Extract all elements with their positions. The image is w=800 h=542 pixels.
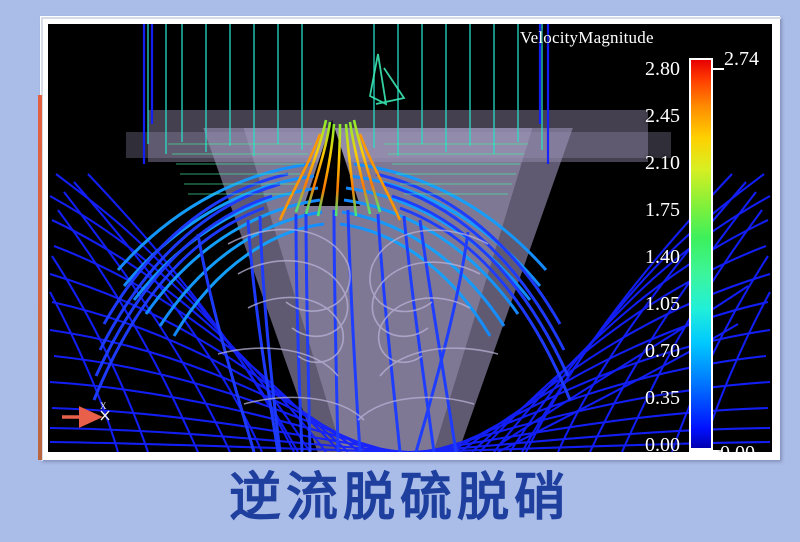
colorbar-tick: 0.00	[645, 434, 680, 452]
colorbar-gradient	[689, 58, 713, 450]
colorbar-tick: 0.70	[645, 340, 680, 363]
screenshot-root: X VelocityMagnitude 2.80 2.45 2.10 1.75 …	[0, 0, 800, 542]
colorbar-tick: 2.80	[645, 58, 680, 81]
colorbar-tick: 1.75	[645, 199, 680, 222]
colorbar	[689, 58, 713, 450]
colorbar-tick: 0.35	[645, 387, 680, 410]
colorbar-title: VelocityMagnitude	[520, 28, 654, 48]
colorbar-max-tickmark	[713, 68, 724, 70]
colorbar-tick: 2.45	[645, 105, 680, 128]
render-canvas: X VelocityMagnitude 2.80 2.45 2.10 1.75 …	[48, 24, 772, 452]
colorbar-max-label: 2.74	[724, 48, 759, 71]
colorbar-tick: 1.05	[645, 293, 680, 316]
slide-caption: 逆流脱硫脱硝	[0, 468, 800, 528]
axis-indicator	[54, 400, 124, 434]
colorbar-min-label: 0.00	[720, 442, 755, 452]
colorbar-tick: 1.40	[645, 246, 680, 269]
colorbar-tick-labels: 2.80 2.45 2.10 1.75 1.40 1.05 0.70 0.35 …	[584, 58, 680, 452]
axis-x-label: X	[100, 401, 107, 411]
colorbar-tick: 2.10	[645, 152, 680, 175]
colorbar-min-tickmark	[689, 450, 723, 452]
left-edge-strip	[38, 95, 42, 460]
